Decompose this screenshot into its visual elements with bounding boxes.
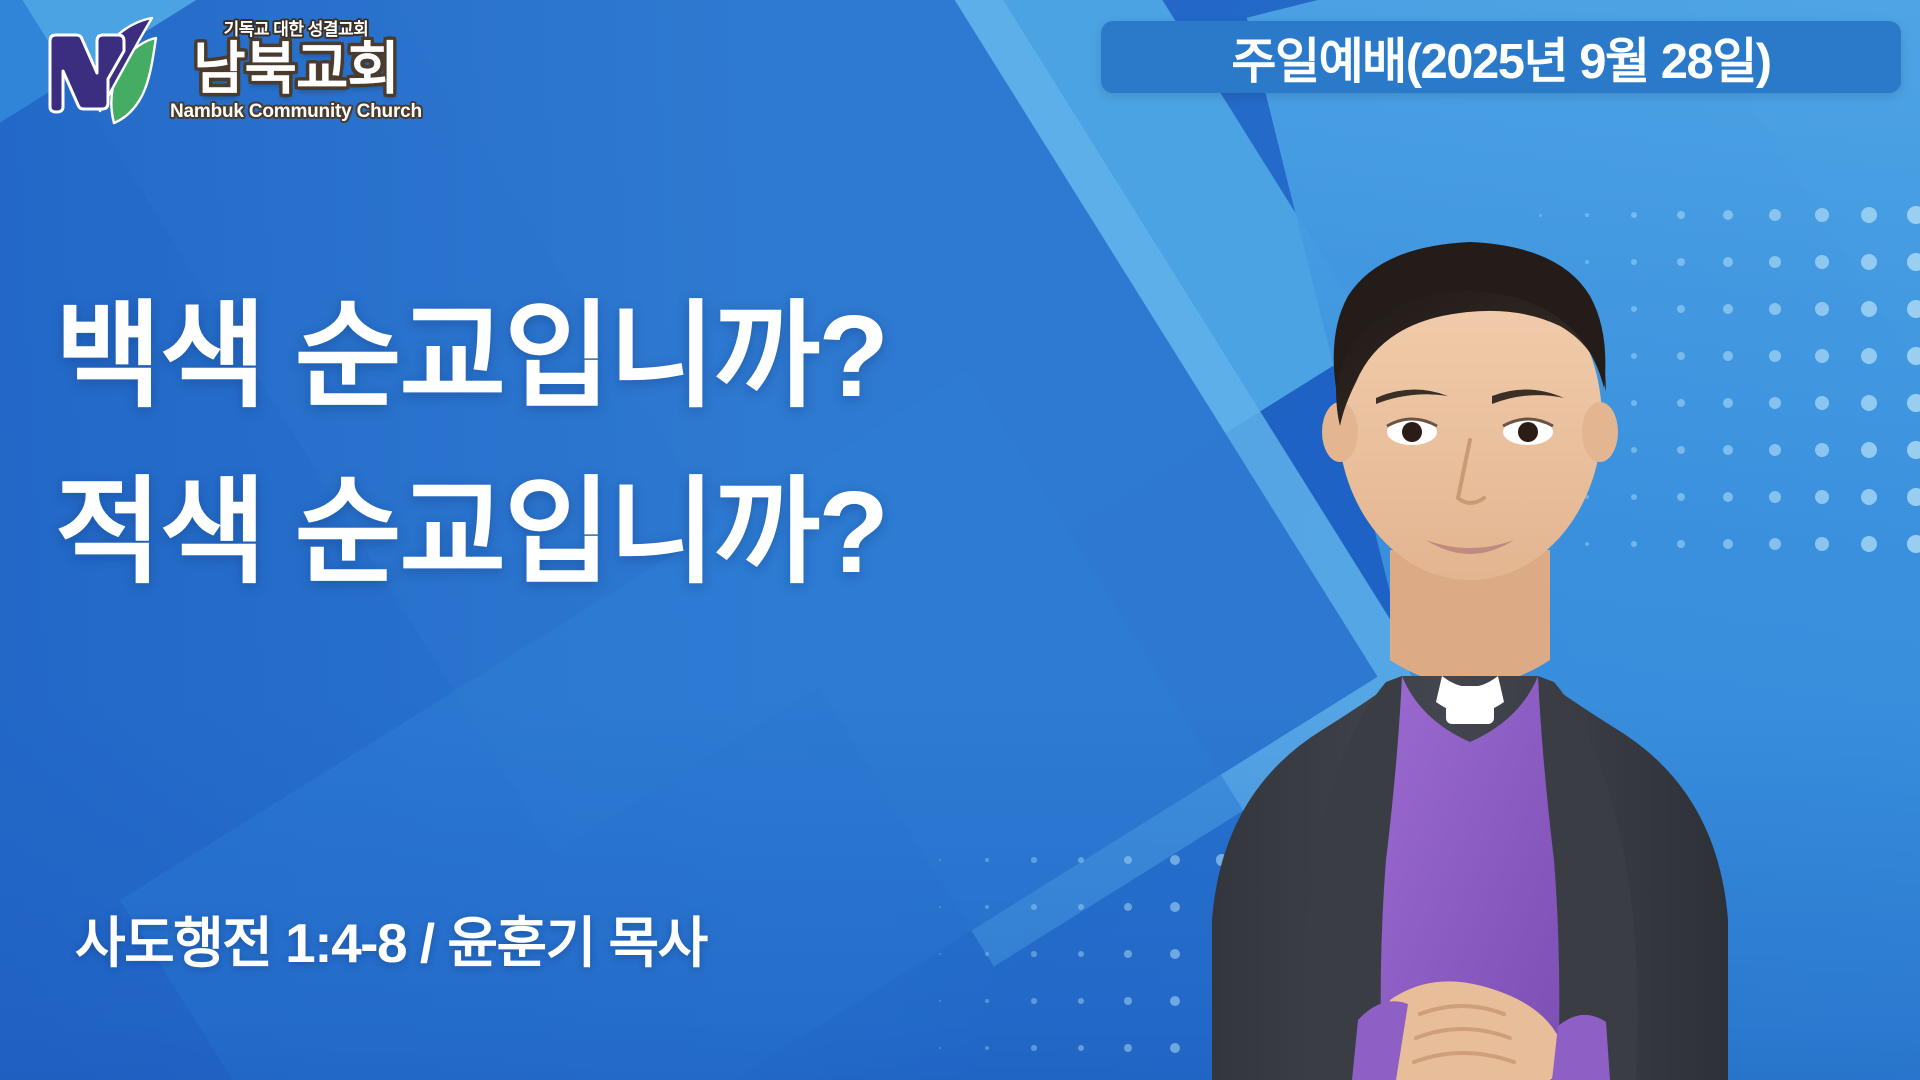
background-dot	[1861, 395, 1877, 411]
background-dot	[985, 905, 989, 909]
background-dot	[1078, 857, 1085, 864]
background-dot	[1861, 301, 1877, 317]
pastor-portrait	[1090, 120, 1850, 1080]
service-date-badge: 주일예배(2025년 9월 28일)	[1101, 21, 1901, 93]
background-dot	[1907, 394, 1920, 412]
background-dot	[1031, 1045, 1036, 1050]
scripture-and-preacher: 사도행전 1:4-8 / 윤훈기 목사	[75, 898, 707, 978]
background-dot	[1907, 300, 1920, 318]
background-dot	[985, 952, 989, 956]
background-dot	[1861, 254, 1877, 270]
background-dot	[939, 1047, 941, 1049]
background-dot	[985, 1046, 989, 1050]
background-dot	[1078, 998, 1085, 1005]
logo-church-name-en: Nambuk Community Church	[170, 102, 422, 121]
background-dot	[1861, 348, 1877, 364]
background-dot	[1861, 207, 1877, 223]
background-dot	[1861, 442, 1877, 458]
background-dot	[1031, 857, 1036, 862]
background-dot	[939, 953, 941, 955]
background-dot	[939, 906, 941, 908]
church-logo-wordmark: 기독교 대한 성결교회 남북교회 Nambuk Community Church	[170, 21, 422, 121]
background-dot	[1907, 535, 1920, 553]
logo-denomination-text: 기독교 대한 성결교회	[224, 21, 369, 38]
background-dot	[1078, 1045, 1085, 1052]
background-dot	[939, 859, 941, 861]
background-dot	[1907, 347, 1920, 365]
service-date-label: 주일예배(2025년 9월 28일)	[1231, 22, 1770, 93]
background-dot	[1861, 489, 1877, 505]
sermon-title-slide: 기독교 대한 성결교회 남북교회 Nambuk Community Church…	[0, 0, 1920, 1080]
background-dot	[1031, 904, 1036, 909]
background-dot	[1078, 904, 1085, 911]
background-dot	[1031, 998, 1036, 1003]
background-dot	[1907, 441, 1920, 459]
background-dot	[939, 1000, 941, 1002]
background-dot	[985, 858, 989, 862]
nambuk-church-n-leaf-icon	[42, 15, 160, 127]
background-dot	[1907, 206, 1920, 224]
background-dot	[1078, 951, 1085, 958]
logo-church-name-kr: 남북교회	[193, 41, 399, 98]
background-dot	[1907, 488, 1920, 506]
background-dot	[1907, 253, 1920, 271]
background-dot	[1031, 951, 1036, 956]
background-dot	[985, 999, 989, 1003]
church-logo: 기독교 대한 성결교회 남북교회 Nambuk Community Church	[42, 12, 422, 130]
background-dot	[1861, 536, 1877, 552]
